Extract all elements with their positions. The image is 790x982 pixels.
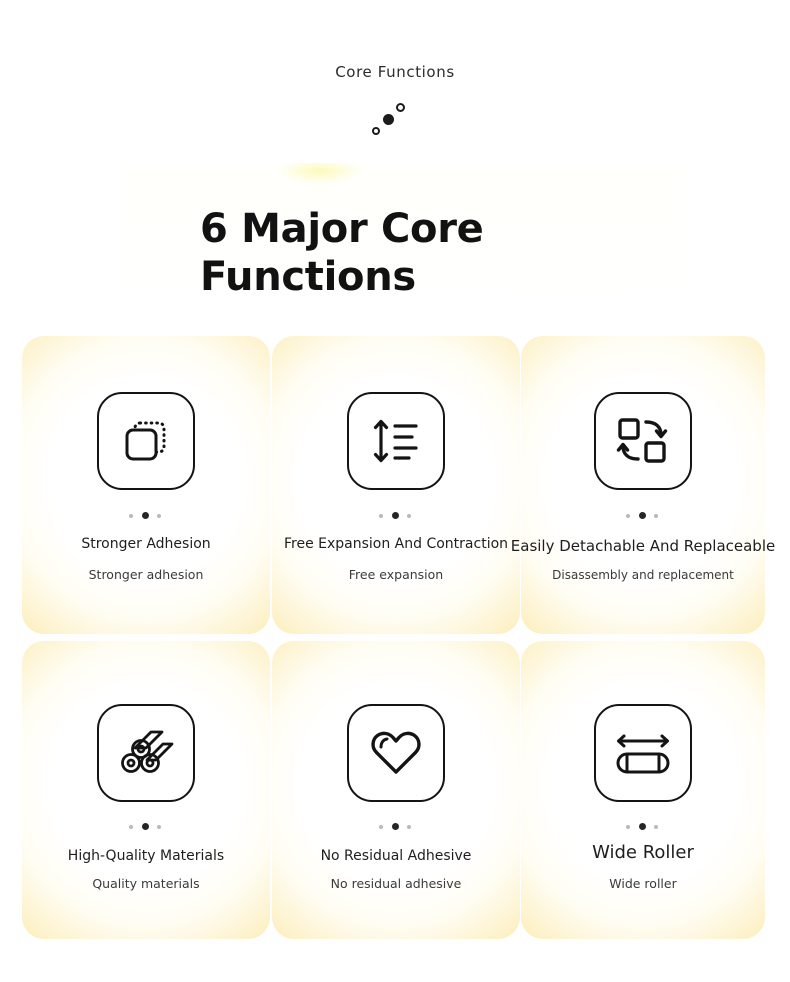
feature-card-free-expansion[interactable]: Free Expansion And Contraction Free expa… xyxy=(272,336,520,634)
card-dot-separator xyxy=(626,512,660,520)
dot-filled-center xyxy=(392,823,399,830)
card-dot-separator xyxy=(379,823,413,831)
swap-squares-arrows-icon xyxy=(594,392,692,490)
card-dot-separator xyxy=(379,512,413,520)
card-subtitle: Stronger adhesion xyxy=(89,566,204,584)
dot-filled-center xyxy=(142,512,149,519)
vertical-arrow-lines-expansion-icon xyxy=(347,392,445,490)
feature-card-no-residual-adhesive[interactable]: No Residual Adhesive No residual adhesiv… xyxy=(272,641,520,939)
page-header: Core Functions 6 Major Core Functions xyxy=(0,0,790,320)
dot-small-left xyxy=(379,825,383,829)
feature-card-easily-detachable[interactable]: Easily Detachable And Replaceable Disass… xyxy=(521,336,765,634)
feature-card-stronger-adhesion[interactable]: Stronger Adhesion Stronger adhesion xyxy=(22,336,270,634)
page-title: 6 Major Core Functions xyxy=(200,205,630,301)
feature-card-high-quality-materials[interactable]: High-Quality Materials Quality materials xyxy=(22,641,270,939)
card-row-1: Stronger Adhesion Stronger adhesion xyxy=(0,336,790,634)
card-subtitle: No residual adhesive xyxy=(331,875,462,893)
card-title: Stronger Adhesion xyxy=(81,534,210,554)
card-row-2: High-Quality Materials Quality materials xyxy=(0,641,790,939)
dot-filled-center xyxy=(392,512,399,519)
dot-small-left xyxy=(129,825,133,829)
card-dot-separator xyxy=(129,823,163,831)
decoration-dot-small-left xyxy=(372,127,380,135)
feature-card-grid: Stronger Adhesion Stronger adhesion xyxy=(0,336,790,946)
eyebrow-label: Core Functions xyxy=(0,63,790,81)
dot-filled-center xyxy=(142,823,149,830)
dot-small-left xyxy=(626,825,630,829)
decoration-dot-small-right xyxy=(396,103,405,112)
dot-small-right xyxy=(654,825,658,829)
layered-squares-adhesion-icon xyxy=(97,392,195,490)
dot-filled-center xyxy=(639,512,646,519)
feature-card-wide-roller[interactable]: Wide Roller Wide roller xyxy=(521,641,765,939)
dot-small-right xyxy=(157,514,161,518)
heart-shine-icon xyxy=(347,704,445,802)
card-title: No Residual Adhesive xyxy=(321,846,472,866)
dot-small-right xyxy=(407,825,411,829)
card-subtitle: Quality materials xyxy=(92,875,199,893)
card-title: Wide Roller xyxy=(592,843,694,863)
card-subtitle: Free expansion xyxy=(349,566,443,584)
card-title: Free Expansion And Contraction xyxy=(284,534,508,554)
dot-small-right xyxy=(407,514,411,518)
card-title: High-Quality Materials xyxy=(68,846,224,866)
dot-small-left xyxy=(379,514,383,518)
wide-roller-arrow-icon xyxy=(594,704,692,802)
decoration-dot-filled xyxy=(383,114,394,125)
three-dot-decoration-icon xyxy=(372,103,412,139)
dot-small-right xyxy=(654,514,658,518)
card-subtitle: Disassembly and replacement xyxy=(552,566,734,584)
dot-small-left xyxy=(626,514,630,518)
card-dot-separator xyxy=(626,823,660,831)
card-dot-separator xyxy=(129,512,163,520)
card-subtitle: Wide roller xyxy=(609,875,676,893)
dot-small-left xyxy=(129,514,133,518)
dot-small-right xyxy=(157,825,161,829)
card-title: Easily Detachable And Replaceable xyxy=(511,536,775,556)
stacked-logs-materials-icon xyxy=(97,704,195,802)
dot-filled-center xyxy=(639,823,646,830)
